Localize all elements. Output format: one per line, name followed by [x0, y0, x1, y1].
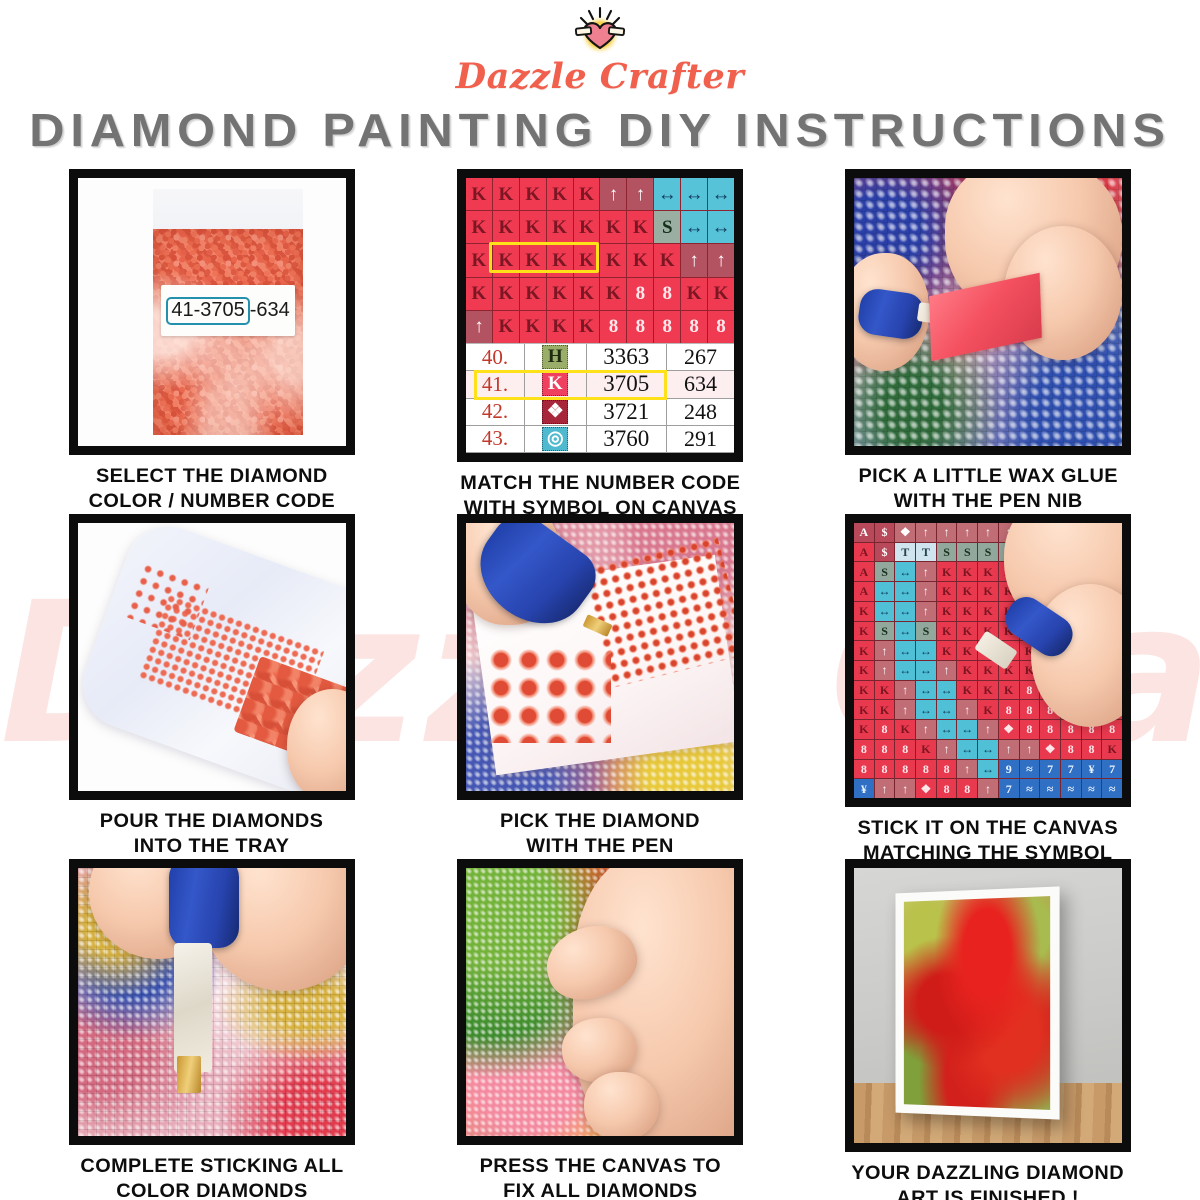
step-6: A$❖↑↑↑↑↑↑↑↑KKA$TTSSSS↔↔S↔↔AS↔↑KKKK↑↔↔↔KA…: [794, 514, 1182, 859]
symbol-cell: ↑: [937, 523, 957, 542]
canvas-cell: K: [493, 178, 519, 210]
step-9: YOUR DAZZLING DIAMOND ART IS FINISHED !: [794, 859, 1182, 1200]
symbol-cell: 9: [999, 760, 1019, 779]
symbol-cell: 8: [937, 779, 957, 798]
symbol-cell: ↔: [895, 661, 915, 680]
symbol-cell: S: [875, 622, 895, 641]
step-4-caption: POUR THE DIAMONDS INTO THE TRAY: [100, 809, 324, 859]
symbol-cell: 8: [895, 740, 915, 759]
symbol-cell: T: [895, 543, 915, 562]
legend-index: 41.: [466, 371, 525, 397]
symbol-cell: 8: [957, 779, 977, 798]
canvas-cell: K: [708, 278, 734, 310]
symbol-cell: K: [978, 661, 998, 680]
symbol-cell: K: [937, 602, 957, 621]
pen-grip: [169, 868, 239, 948]
symbol-cell: ↑: [875, 779, 895, 798]
canvas-cell: K: [574, 211, 600, 243]
canvas-cell: K: [547, 178, 573, 210]
symbol-cell: K: [957, 562, 977, 581]
canvas-cell: K: [574, 244, 600, 276]
symbol-cell: K: [957, 622, 977, 641]
legend-code: 3363: [587, 344, 667, 370]
step-4: POUR THE DIAMONDS INTO THE TRAY: [18, 514, 406, 859]
canvas-cell: K: [466, 178, 492, 210]
symbol-cell: ↑: [916, 602, 936, 621]
canvas-cell: K: [600, 211, 626, 243]
symbol-cell: K: [854, 700, 874, 719]
symbol-cell: S: [875, 562, 895, 581]
symbol-cell: ↑: [916, 523, 936, 542]
step-3: PICK A LITTLE WAX GLUE WITH THE PEN NIB: [794, 169, 1182, 514]
canvas-symbol-grid: KKKKK↑↑↔↔↔KKKKKKKS↔↔KKKKKKKK↑↑KKKKKK88KK…: [466, 178, 734, 343]
legend-row: 42.❖3721248: [466, 399, 734, 426]
legend-code: 3721: [587, 399, 667, 425]
symbol-cell: K: [854, 622, 874, 641]
complete-sticking-photo: [69, 859, 355, 1145]
symbol-cell: 7: [1040, 760, 1060, 779]
canvas-cell: K: [547, 244, 573, 276]
symbol-cell: S: [916, 622, 936, 641]
symbol-cell: A: [854, 562, 874, 581]
canvas-cell: K: [493, 311, 519, 343]
symbol-cell: ≈: [1020, 779, 1040, 798]
symbol-cell: K: [854, 681, 874, 700]
canvas-cell: K: [627, 211, 653, 243]
symbol-cell: ↔: [875, 582, 895, 601]
symbol-cell: K: [978, 700, 998, 719]
brand-lockup: Dazzle Crafter: [0, 6, 1200, 97]
symbol-cell: ↔: [957, 740, 977, 759]
symbol-cell: ↑: [978, 720, 998, 739]
step-7-caption: COMPLETE STICKING ALL COLOR DIAMONDS: [80, 1154, 343, 1200]
press-canvas-photo: [457, 859, 743, 1145]
legend-symbol: K: [525, 371, 587, 397]
symbol-cell: ↔: [978, 760, 998, 779]
symbol-cell: K: [957, 602, 977, 621]
bag-code-suffix: -634: [250, 299, 290, 322]
canvas-cell: 8: [654, 278, 680, 310]
canvas-cell: ↔: [681, 211, 707, 243]
legend-code: 3760: [587, 426, 667, 452]
canvas-cell: K: [574, 178, 600, 210]
symbol-cell: 8: [937, 760, 957, 779]
symbol-cell: K: [937, 562, 957, 581]
symbol-cell: A: [854, 543, 874, 562]
step-5: PICK THE DIAMOND WITH THE PEN: [406, 514, 794, 859]
symbol-cell: K: [854, 661, 874, 680]
symbol-cell: ↔: [895, 582, 915, 601]
canvas-cell: K: [520, 211, 546, 243]
canvas-cell: K: [600, 244, 626, 276]
symbol-cell: ↑: [957, 523, 977, 542]
legend-index: 40.: [466, 344, 525, 370]
canvas-cell: ↔: [708, 178, 734, 210]
canvas-cell: K: [547, 278, 573, 310]
symbol-cell: 8: [1020, 720, 1040, 739]
legend-symbol: ❖: [525, 399, 587, 425]
canvas-cell: K: [493, 244, 519, 276]
symbol-cell: ↑: [895, 681, 915, 700]
symbol-cell: ↑: [999, 740, 1019, 759]
symbol-cell: A: [854, 523, 874, 542]
symbol-cell: S: [978, 543, 998, 562]
canvas-cell: ↑: [708, 244, 734, 276]
canvas-cell: 8: [654, 311, 680, 343]
symbol-cell: 7: [1061, 760, 1081, 779]
canvas-cell: K: [681, 278, 707, 310]
legend-index: 42.: [466, 399, 525, 425]
symbol-cell: ↔: [957, 720, 977, 739]
symbol-cell: 7: [1102, 760, 1122, 779]
legend-count: 291: [667, 426, 734, 452]
pick-diamond-pen-photo: [457, 514, 743, 800]
legend-symbol: ◎: [525, 426, 587, 452]
symbol-cell: ↑: [895, 779, 915, 798]
canvas-cell: K: [547, 211, 573, 243]
symbol-cell: 8: [854, 740, 874, 759]
symbol-cell: S: [957, 543, 977, 562]
canvas-cell: K: [493, 278, 519, 310]
poster-header: Dazzle Crafter DIAMOND PAINTING DIY INST…: [0, 0, 1200, 157]
symbol-cell: 8: [875, 720, 895, 739]
canvas-cell: K: [520, 244, 546, 276]
symbol-cell: ↔: [875, 602, 895, 621]
symbol-cell: K: [978, 582, 998, 601]
legend-symbol: H: [525, 344, 587, 370]
canvas-cell: ↑: [681, 244, 707, 276]
symbol-cell: ↑: [916, 720, 936, 739]
legend-count: 634: [667, 371, 734, 397]
canvas-cell: K: [520, 178, 546, 210]
symbol-cell: 8: [1082, 740, 1102, 759]
symbol-cell: ↔: [937, 700, 957, 719]
symbol-cell: ↔: [937, 720, 957, 739]
colour-legend-table: 40.H336326741.K370563442.❖372124843.◎376…: [466, 343, 734, 453]
symbol-cell: K: [957, 582, 977, 601]
symbol-cell: 8: [916, 760, 936, 779]
symbol-cell: ↔: [895, 562, 915, 581]
symbol-cell: K: [916, 740, 936, 759]
step-9-caption: YOUR DAZZLING DIAMOND ART IS FINISHED !: [852, 1161, 1125, 1200]
symbol-cell: ↑: [1020, 740, 1040, 759]
symbol-cell: K: [957, 661, 977, 680]
legend-count: 248: [667, 399, 734, 425]
symbol-cell: ❖: [1040, 740, 1060, 759]
step-7: COMPLETE STICKING ALL COLOR DIAMONDS: [18, 859, 406, 1200]
symbol-cell: $: [875, 543, 895, 562]
symbol-cell: ❖: [999, 720, 1019, 739]
symbol-cell: S: [937, 543, 957, 562]
symbol-cell: 8: [1040, 720, 1060, 739]
symbol-cell: 8: [875, 760, 895, 779]
canvas-cell: ↔: [681, 178, 707, 210]
bag-code-label: 41-3705-634: [161, 285, 295, 336]
legend-code: 3705: [587, 371, 667, 397]
canvas-cell: 8: [627, 311, 653, 343]
symbol-cell: ¥: [854, 779, 874, 798]
symbol-cell: K: [854, 602, 874, 621]
symbol-cell: K: [937, 641, 957, 660]
pen-nib: [177, 1056, 201, 1094]
symbol-cell: ↔: [895, 602, 915, 621]
ring-finger: [584, 1072, 659, 1136]
symbol-cell: K: [854, 720, 874, 739]
symbol-cell: ≈: [1102, 779, 1122, 798]
symbol-cell: 8: [854, 760, 874, 779]
canvas-cell: ↑: [466, 311, 492, 343]
symbol-cell: ↔: [916, 661, 936, 680]
symbol-cell: 8: [1061, 740, 1081, 759]
canvas-cell: K: [520, 278, 546, 310]
symbol-cell: K: [978, 602, 998, 621]
symbol-cell: $: [875, 523, 895, 542]
stick-on-canvas-photo: A$❖↑↑↑↑↑↑↑↑KKA$TTSSSS↔↔S↔↔AS↔↑KKKK↑↔↔↔KA…: [845, 514, 1131, 807]
canvas-cell: K: [466, 211, 492, 243]
steps-grid: 41-3705-634 SELECT THE DIAMOND COLOR / N…: [0, 169, 1200, 1200]
symbol-cell: ↔: [978, 740, 998, 759]
canvas-cell: 8: [600, 311, 626, 343]
canvas-cell: S: [654, 211, 680, 243]
canvas-cell: K: [574, 278, 600, 310]
symbol-cell: 8: [895, 760, 915, 779]
canvas-cell: K: [466, 278, 492, 310]
canvas-cell: ↔: [654, 178, 680, 210]
symbol-cell: 8: [875, 740, 895, 759]
legend-row: 40.H3363267: [466, 344, 734, 371]
symbol-cell: K: [999, 681, 1019, 700]
picture-frame: [895, 886, 1059, 1119]
symbol-cell: ¥: [1082, 760, 1102, 779]
symbol-cell: K: [957, 641, 977, 660]
canvas-cell: K: [466, 244, 492, 276]
wax-glue-pen-photo: [845, 169, 1131, 455]
symbol-cell: A: [854, 582, 874, 601]
symbol-cell: K: [978, 562, 998, 581]
symbol-cell: ↔: [916, 681, 936, 700]
poppy-artwork: [903, 896, 1049, 1109]
step-1-caption: SELECT THE DIAMOND COLOR / NUMBER CODE: [89, 464, 335, 514]
symbol-cell: ≈: [1082, 779, 1102, 798]
canvas-cell: ↑: [600, 178, 626, 210]
step-5-caption: PICK THE DIAMOND WITH THE PEN: [500, 809, 700, 859]
step-8: PRESS THE CANVAS TO FIX ALL DIAMONDS: [406, 859, 794, 1200]
bag-code-highlighted: 41-3705: [166, 297, 249, 325]
canvas-cell: 8: [708, 311, 734, 343]
canvas-cell: 8: [627, 278, 653, 310]
symbol-cell: K: [875, 700, 895, 719]
symbol-cell: ↔: [895, 622, 915, 641]
canvas-cell: ↔: [708, 211, 734, 243]
symbol-cell: ↑: [937, 740, 957, 759]
canvas-cell: K: [627, 244, 653, 276]
symbol-cell: ❖: [895, 523, 915, 542]
symbol-cell: K: [854, 641, 874, 660]
framed-artwork-photo: [845, 859, 1131, 1152]
diamond-tray-photo: [69, 514, 355, 800]
symbol-cell: ↔: [916, 700, 936, 719]
symbol-cell: ≈: [1040, 779, 1060, 798]
legend-row: 41.K3705634: [466, 371, 734, 398]
brand-name: Dazzle Crafter: [456, 56, 744, 97]
symbol-cell: K: [1102, 740, 1122, 759]
symbol-cell: ↑: [957, 760, 977, 779]
heart-with-pen-icon: [569, 6, 631, 58]
symbol-cell: K: [937, 622, 957, 641]
step-2: KKKKK↑↑↔↔↔KKKKKKKS↔↔KKKKKKKK↑↑KKKKKK88KK…: [406, 169, 794, 514]
canvas-cell: K: [574, 311, 600, 343]
legend-row: 43.◎3760291: [466, 426, 734, 453]
canvas-chart-legend-photo: KKKKK↑↑↔↔↔KKKKKKKS↔↔KKKKKKKK↑↑KKKKKK88KK…: [457, 169, 743, 462]
canvas-cell: ↑: [627, 178, 653, 210]
symbol-cell: ❖: [916, 779, 936, 798]
symbol-cell: ↑: [875, 641, 895, 660]
page-title: DIAMOND PAINTING DIY INSTRUCTIONS: [0, 103, 1200, 157]
symbol-cell: ↑: [957, 700, 977, 719]
canvas-cell: 8: [681, 311, 707, 343]
step-8-caption: PRESS THE CANVAS TO FIX ALL DIAMONDS: [479, 1154, 720, 1200]
symbol-cell: ↑: [916, 562, 936, 581]
legend-index: 43.: [466, 426, 525, 452]
symbol-cell: K: [978, 681, 998, 700]
symbol-cell: ↔: [937, 681, 957, 700]
canvas-cell: K: [547, 311, 573, 343]
symbol-cell: ↑: [978, 523, 998, 542]
symbol-cell: ↑: [937, 661, 957, 680]
canvas-cell: K: [520, 311, 546, 343]
symbol-cell: ↑: [895, 700, 915, 719]
symbol-cell: ↔: [916, 641, 936, 660]
canvas-cell: K: [600, 278, 626, 310]
symbol-cell: 8: [1020, 700, 1040, 719]
instructions-poster: Dazzle Crafter: [0, 0, 1200, 1200]
symbol-cell: K: [937, 582, 957, 601]
symbol-cell: T: [916, 543, 936, 562]
symbol-cell: 7: [999, 779, 1019, 798]
pen-barrel: [174, 943, 212, 1072]
canvas-cell: K: [493, 211, 519, 243]
canvas-cell: K: [654, 244, 680, 276]
symbol-cell: ↔: [895, 641, 915, 660]
symbol-cell: ≈: [1020, 760, 1040, 779]
diamond-bag-photo: 41-3705-634: [69, 169, 355, 455]
scattered-diamonds: [487, 646, 610, 742]
symbol-cell: 8: [999, 700, 1019, 719]
symbol-cell: ↑: [875, 661, 895, 680]
step-3-caption: PICK A LITTLE WAX GLUE WITH THE PEN NIB: [858, 464, 1117, 514]
symbol-cell: K: [895, 720, 915, 739]
legend-count: 267: [667, 344, 734, 370]
symbol-cell: K: [957, 681, 977, 700]
symbol-cell: ↑: [916, 582, 936, 601]
step-1: 41-3705-634 SELECT THE DIAMOND COLOR / N…: [18, 169, 406, 514]
symbol-cell: K: [875, 681, 895, 700]
symbol-cell: ≈: [1061, 779, 1081, 798]
symbol-cell: ↑: [978, 779, 998, 798]
